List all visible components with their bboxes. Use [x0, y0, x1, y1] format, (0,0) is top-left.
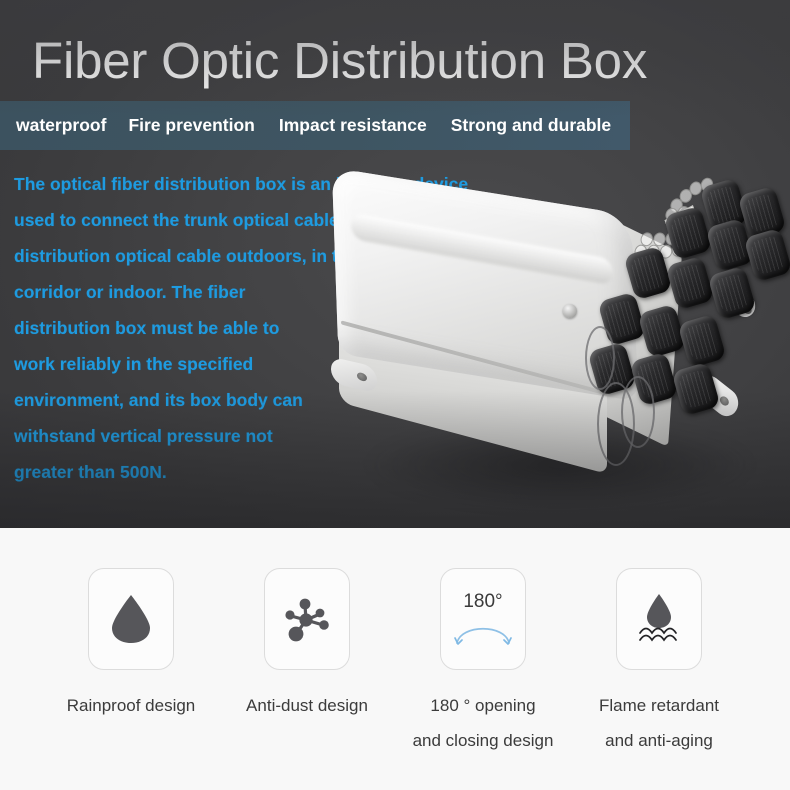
port-cap [665, 256, 714, 311]
flame-retardant-droplet-waves-icon [634, 591, 684, 647]
feature-caption-line: Flame retardant [599, 688, 719, 723]
dust-particle-molecule-icon [281, 593, 333, 645]
180-degree-arc-icon [452, 617, 514, 647]
tag-strong-and-durable: Strong and durable [451, 115, 611, 136]
feature-caption: Anti-dust design [246, 688, 368, 723]
degree-label: 180° [463, 592, 502, 611]
tag-fire-prevention: Fire prevention [128, 115, 254, 136]
feature-strip: Rainproof design [0, 528, 790, 790]
feature-caption-line: 180 ° opening [413, 688, 554, 723]
port-cap [623, 246, 672, 301]
hero-section: Fiber Optic Distribution Box waterproof … [0, 0, 790, 528]
feature-caption-line: and closing design [413, 723, 554, 758]
cap-tether [621, 376, 655, 448]
product-photo [325, 170, 790, 515]
feature-caption-line: Rainproof design [67, 688, 196, 723]
tag-waterproof: waterproof [16, 115, 106, 136]
feature-flame-retardant: Flame retardant and anti-aging [571, 568, 747, 758]
feature-caption-line: and anti-aging [599, 723, 719, 758]
feature-icon-card: 180° [440, 568, 526, 670]
tag-impact-resistance: Impact resistance [279, 115, 427, 136]
feature-caption: 180 ° opening and closing design [413, 688, 554, 758]
port-cap [671, 362, 720, 417]
feature-rainproof: Rainproof design [43, 568, 219, 723]
feature-icon-card [264, 568, 350, 670]
cap-tether [585, 326, 615, 390]
port-cap-cluster [573, 176, 790, 476]
feature-caption: Flame retardant and anti-aging [599, 688, 719, 758]
feature-180-opening: 180° 180 ° opening and closing design [395, 568, 571, 758]
feature-caption: Rainproof design [67, 688, 196, 723]
port-cap [677, 314, 726, 369]
page-title: Fiber Optic Distribution Box [32, 32, 647, 90]
port-cap [707, 266, 756, 321]
water-droplet-icon [109, 593, 153, 645]
port-cap [663, 206, 712, 261]
feature-anti-dust: Anti-dust design [219, 568, 395, 723]
port-cap [743, 228, 790, 283]
feature-tag-bar: waterproof Fire prevention Impact resist… [0, 101, 630, 150]
product-banner: Fiber Optic Distribution Box waterproof … [0, 0, 790, 790]
feature-icon-card [88, 568, 174, 670]
feature-icon-card [616, 568, 702, 670]
feature-caption-line: Anti-dust design [246, 688, 368, 723]
